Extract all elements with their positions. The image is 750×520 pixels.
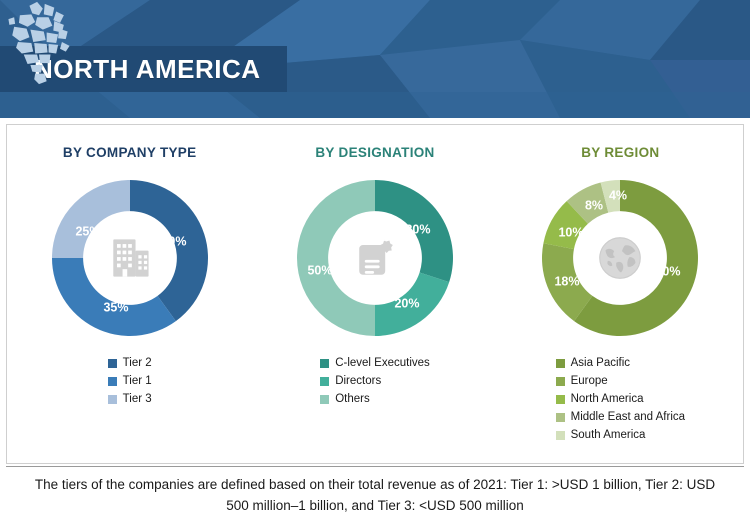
footer-divider	[6, 466, 744, 467]
slice-label-60: 60%	[656, 264, 681, 278]
legend-swatch-north-america	[556, 395, 565, 404]
legend-swatch-others	[320, 395, 329, 404]
legend-item[interactable]: Tier 1	[108, 374, 152, 389]
chart-by-company-type: BY COMPANY TYPE 40% 35% 25%	[7, 125, 252, 463]
slice-label-40: 40%	[161, 234, 186, 248]
legend-swatch-directors	[320, 377, 329, 386]
legend-label: North America	[571, 392, 644, 407]
footer-note: The tiers of the companies are defined b…	[30, 474, 720, 516]
slice-label-30: 30%	[405, 222, 430, 236]
donut-designation: 30% 20% 50%	[285, 168, 465, 348]
legend-item[interactable]: South America	[556, 428, 685, 443]
legend-swatch-europe	[556, 377, 565, 386]
legend-item[interactable]: Tier 2	[108, 356, 152, 371]
slice-label-25: 25%	[75, 224, 100, 238]
slice-label-8: 8%	[585, 198, 603, 212]
legend-item[interactable]: North America	[556, 392, 685, 407]
legend-label: Directors	[335, 374, 381, 389]
chart-by-designation: BY DESIGNATION 30% 20% 50%	[252, 125, 497, 463]
legend-item[interactable]: Middle East and Africa	[556, 410, 685, 425]
document-badge-icon	[345, 228, 405, 288]
chart-title-designation: BY DESIGNATION	[315, 145, 434, 160]
legend-item[interactable]: Europe	[556, 374, 685, 389]
chart-title-region: BY REGION	[581, 145, 659, 160]
chart-title-company-type: BY COMPANY TYPE	[63, 145, 197, 160]
legend-label: Europe	[571, 374, 608, 389]
legend-label: Others	[335, 392, 370, 407]
donut-region: 60% 18% 10% 8% 4%	[530, 168, 710, 348]
globe-icon	[590, 228, 650, 288]
legend-label: Tier 1	[123, 374, 152, 389]
slice-label-20: 20%	[394, 296, 419, 310]
legend-swatch-tier-2	[108, 359, 117, 368]
building-icon	[100, 228, 160, 288]
legend-swatch-asia-pacific	[556, 359, 565, 368]
slice-label-4: 4%	[609, 188, 627, 202]
north-america-map-icon	[0, 0, 78, 86]
slice-label-35: 35%	[103, 300, 128, 314]
legend-item[interactable]: Directors	[320, 374, 430, 389]
legend-swatch-c-level-executives	[320, 359, 329, 368]
charts-panel: BY COMPANY TYPE 40% 35% 25%	[6, 124, 744, 464]
legend-swatch-tier-3	[108, 395, 117, 404]
legend-label: Tier 2	[123, 356, 152, 371]
header-banner: NORTH AMERICA	[0, 0, 750, 118]
charts-row: BY COMPANY TYPE 40% 35% 25%	[7, 125, 743, 463]
legend-swatch-south-america	[556, 431, 565, 440]
legend-swatch-tier-1	[108, 377, 117, 386]
legend-label: Tier 3	[123, 392, 152, 407]
legend-label: Asia Pacific	[571, 356, 630, 371]
slice-label-50: 50%	[307, 263, 332, 277]
legend-item[interactable]: C-level Executives	[320, 356, 430, 371]
legend-item[interactable]: Tier 3	[108, 392, 152, 407]
legend-designation: C-level Executives Directors Others	[320, 356, 430, 407]
legend-region: Asia Pacific Europe North America Middle…	[556, 356, 685, 443]
legend-label: C-level Executives	[335, 356, 430, 371]
legend-label: South America	[571, 428, 646, 443]
legend-item[interactable]: Others	[320, 392, 430, 407]
chart-by-region: BY REGION	[498, 125, 743, 463]
slice-label-10: 10%	[559, 225, 584, 239]
legend-label: Middle East and Africa	[571, 410, 685, 425]
legend-item[interactable]: Asia Pacific	[556, 356, 685, 371]
infographic-page: NORTH AMERICA	[0, 0, 750, 520]
slice-label-18: 18%	[555, 274, 580, 288]
legend-swatch-middle-east-and-africa	[556, 413, 565, 422]
donut-company-type: 40% 35% 25%	[40, 168, 220, 348]
legend-company-type: Tier 2 Tier 1 Tier 3	[108, 356, 152, 407]
